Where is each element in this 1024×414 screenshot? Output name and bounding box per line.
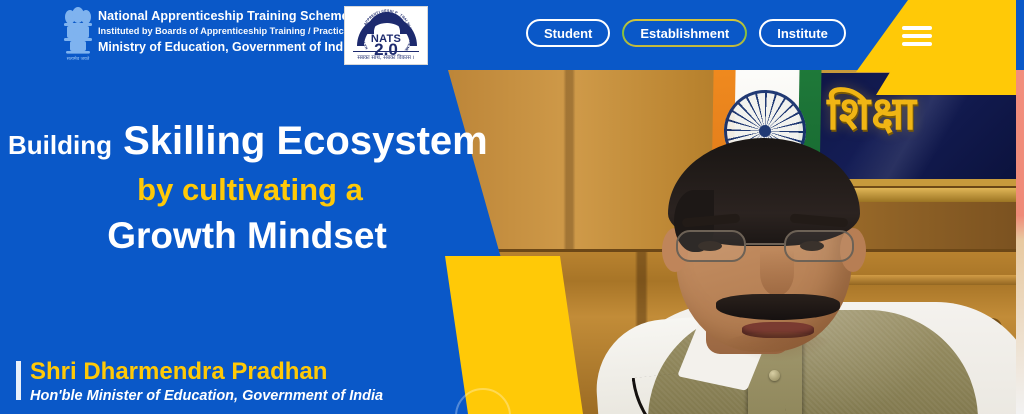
hamburger-bar-2 [902, 34, 932, 38]
headline-line-3: Growth Mindset [0, 212, 480, 260]
nav-pill-student[interactable]: Student [526, 19, 610, 47]
hero-headline: Building Skilling Ecosystem by cultivati… [0, 118, 480, 260]
eyeglass-bridge [746, 243, 784, 245]
speaker-name: Shri Dharmendra Pradhan [30, 357, 383, 386]
headline-line-2: by cultivating a [0, 168, 480, 212]
nats-logo[interactable]: NATIONAL APPRENTICESHIP TRAINING SCHEME … [344, 6, 428, 65]
headline-line-1: Building Skilling Ecosystem [0, 118, 480, 168]
speaker-credit: Shri Dharmendra Pradhan Hon'ble Minister… [16, 357, 383, 406]
eyeglass-lens-left [676, 230, 746, 262]
person-nose [760, 250, 794, 296]
hamburger-bar-1 [902, 26, 932, 30]
banner-root: शिक्षा [0, 0, 1024, 414]
eyeglass-lens-right [784, 230, 854, 262]
site-header: सत्यमेव जयते National Apprenticeship Tra… [0, 0, 1024, 70]
ashoka-emblem-icon: सत्यमेव जयते [58, 7, 98, 63]
headline-prefix: Building [8, 130, 112, 160]
svg-text:सत्यमेव जयते: सत्यमेव जयते [67, 55, 90, 62]
speaker-role: Hon'ble Minister of Education, Governmen… [30, 386, 383, 406]
person-chin-shadow [722, 332, 834, 362]
nav-pill-institute[interactable]: Institute [759, 19, 846, 47]
nats-tagline: सबका साथ, सबका विकास । [353, 51, 419, 61]
hamburger-menu-icon[interactable] [902, 26, 932, 46]
hamburger-bar-3 [902, 42, 932, 46]
person-mustache [716, 294, 840, 320]
nav-pill-establishment[interactable]: Establishment [622, 19, 747, 47]
headline-main: Skilling Ecosystem [123, 119, 488, 163]
primary-nav: Student Establishment Institute [526, 19, 846, 47]
